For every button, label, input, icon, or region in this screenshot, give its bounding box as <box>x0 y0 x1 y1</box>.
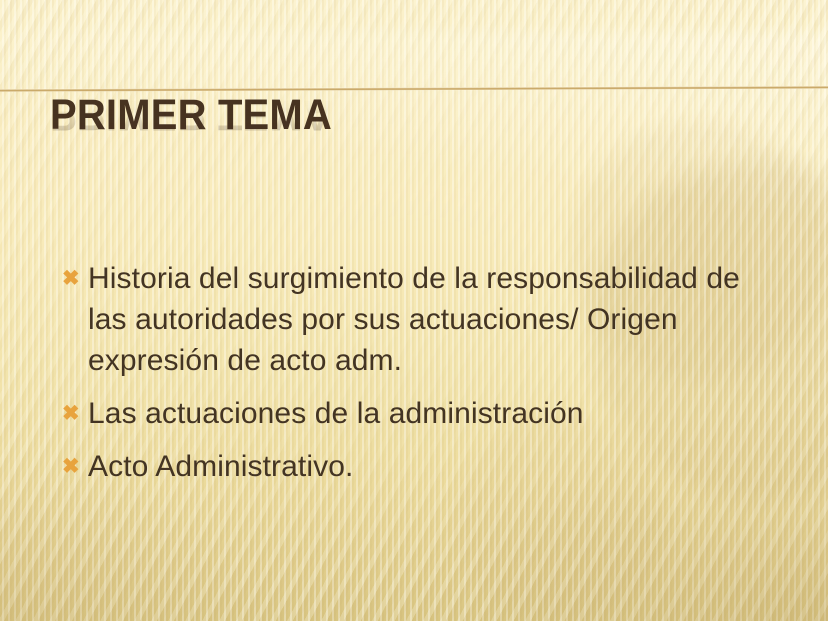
bullet-list: ✖ Historia del surgimiento de la respons… <box>58 258 798 499</box>
title-block[interactable]: PRIMER TEMA PRIMER TEMA <box>50 92 790 202</box>
slide-canvas: PRIMER TEMA PRIMER TEMA ✖ Historia del s… <box>0 0 828 621</box>
bullet-x-icon: ✖ <box>58 393 88 434</box>
list-item[interactable]: ✖ Acto Administrativo. <box>58 446 798 487</box>
list-item-label: Historia del surgimiento de la responsab… <box>88 258 798 381</box>
list-item-label: Las actuaciones de la administración <box>88 393 798 434</box>
page-title-reflection: PRIMER TEMA <box>50 92 738 138</box>
list-item-label: Acto Administrativo. <box>88 446 798 487</box>
bullet-x-icon: ✖ <box>58 446 88 487</box>
list-item[interactable]: ✖ Las actuaciones de la administración <box>58 393 798 434</box>
bullet-x-icon: ✖ <box>58 258 88 299</box>
list-item[interactable]: ✖ Historia del surgimiento de la respons… <box>58 258 798 381</box>
